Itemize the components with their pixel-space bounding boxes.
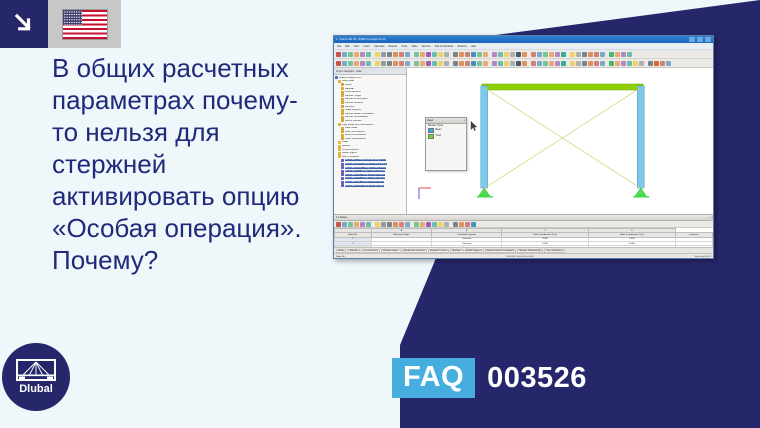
column-member-right [637,86,644,188]
toolbar-icon[interactable] [360,61,365,66]
toolbar-icon[interactable] [561,61,566,66]
toolbar-icon[interactable] [366,61,371,66]
toolbar-icon[interactable] [405,52,410,57]
faq-number: 003526 [487,361,587,395]
toolbar-icon[interactable] [504,52,509,57]
toolbar-icon[interactable] [444,61,449,66]
module-icon [341,181,344,184]
module-icon [341,166,344,169]
toolbar-icon[interactable] [453,222,458,227]
legend-swatch [428,134,434,139]
module-icon [341,159,344,162]
navigator-item-label: RF-STEEL EC3 - Design of steel membe [345,163,387,165]
toolbar-icon[interactable] [387,61,392,66]
toolbar-icon[interactable] [354,52,359,57]
table-tab[interactable]: Cross-Sections [361,249,380,253]
navigator-header: Project Navigator - Data [334,68,406,75]
folder-icon [338,148,341,151]
toolbar-icon[interactable] [609,52,614,57]
toolbar-icon[interactable] [438,52,443,57]
support-icon [341,109,344,112]
navigator-item-label: Loads [342,141,348,143]
toolbar-icon[interactable] [600,61,605,66]
combo-icon [341,134,344,137]
navigator-item-label: Load Cases [345,127,357,129]
folder-icon [338,152,341,155]
navigator-item-label: Printout Reports [342,149,359,151]
toolbar-icon[interactable] [414,61,419,66]
toolbar-icon[interactable] [609,61,614,66]
toolbar-icon[interactable] [531,61,536,66]
toolbar-icon[interactable] [432,61,437,66]
status-bar: Node No. [X=0.000 Y=0.000 Z=0.000] Snap … [334,253,713,259]
navigator-item-label: Results [342,145,350,147]
toolbar-icon[interactable] [510,61,515,66]
faq-banner: FAQ 003526 [392,358,587,398]
beam-member [482,84,643,90]
toolbar-icon[interactable] [492,52,497,57]
menu-item-calculate[interactable]: Calculate [374,45,385,48]
table-grid[interactable]: ABCD Node No.Reference NodeCoordinate Sy… [334,228,713,247]
status-center: [X=0.000 Y=0.000 Z=0.000] [506,256,533,258]
toolbar-icon[interactable] [666,61,671,66]
toolbar-icon[interactable] [405,222,410,227]
us-flag-icon [63,10,107,39]
table-tab[interactable]: Nodal Supports [465,249,484,253]
menu-item-view[interactable]: View [354,45,360,48]
navigator-item-label: Model Data [342,80,354,82]
toolbar-icon[interactable] [498,52,503,57]
toolbar-icon[interactable] [399,52,404,57]
navigator-item-label: Add-on Modules [342,156,359,158]
navigator-item-label: RF-STEEL GB - Design of steel memb [345,181,384,183]
ecc-icon [341,98,344,101]
table-tab[interactable]: Materials [347,249,360,253]
table-tab[interactable]: Sets of Members [544,249,565,253]
table-tab[interactable]: Member Hinges [381,249,400,253]
window-titlebar: 1 - Frame 001.rf5 - RFEM 6 Analysis 01.r… [334,36,713,43]
toolbar-icon[interactable] [354,61,359,66]
navigator-item-label: Member Hinges [345,95,361,97]
corner-arrow-badge [0,0,48,48]
navigator-item-label: RF-STEEL BS - Design of steel membe [345,177,385,179]
legend-title: Panel [427,119,433,122]
menu-item-options[interactable]: Options [422,45,431,48]
folder-icon [338,80,341,83]
navigator-item-label: Load Combinations [345,131,365,133]
navigator-item-label: Member Elastic Foundations [345,113,374,115]
toolbar-icon[interactable] [555,61,560,66]
toolbar-icon[interactable] [549,52,554,57]
toolbar-icon[interactable] [582,61,587,66]
navigator-item-label: Member Nonlinearities [345,116,368,118]
toolbar-icon[interactable] [459,61,464,66]
toolbar-icon[interactable] [516,52,521,57]
dlubal-bridge-icon [16,359,56,381]
toolbar-icon[interactable] [615,61,620,66]
window-controls[interactable] [689,37,711,42]
minimize-icon[interactable] [689,37,695,42]
toolbar-icon[interactable] [438,61,443,66]
found-icon [341,112,344,115]
dlubal-logo: Dlubal [2,343,70,411]
toolbar-icon[interactable] [465,222,470,227]
nodal-support-left [479,188,490,196]
toolbar-icon[interactable] [375,222,380,227]
toolbar-icon[interactable] [555,52,560,57]
support-base-right [633,196,649,198]
toolbar-icon[interactable] [621,52,626,57]
toolbar-icon[interactable] [381,222,386,227]
section-icon [341,91,344,94]
toolbar-icon[interactable] [432,52,437,57]
panel-legend[interactable]: Panel × Member Types BeamTruss [425,117,467,171]
navigator-item-label: Member Divisions [345,102,363,104]
toolbar-icon[interactable] [549,61,554,66]
toolbar-icon[interactable] [627,52,632,57]
table-body[interactable]: 1-Cartesian0.0000.0002-Cartesian0.000-6.… [335,237,713,247]
toolbar-icon[interactable] [498,61,503,66]
toolbar-icon[interactable] [537,52,542,57]
folder-icon [338,155,341,158]
navigator-item-label: RF-STEEL CSA - Design of steel mem [345,185,384,187]
toolbar-icon[interactable] [420,222,425,227]
toolbar-icon[interactable] [444,52,449,57]
toolbar-icon[interactable] [483,52,488,57]
material-icon [341,87,344,90]
toolbar-icon[interactable] [366,222,371,227]
toolbar-icon[interactable] [477,52,482,57]
toolbar-icon[interactable] [336,52,341,57]
toolbar-icon[interactable] [375,52,380,57]
combo-icon [341,130,344,133]
toolbar-icon[interactable] [588,52,593,57]
legend-entries: BeamTruss [426,127,466,139]
module-icon [341,163,344,166]
toolbar-icon[interactable] [594,61,599,66]
toolbar-icon[interactable] [615,52,620,57]
menu-item-window[interactable]: Window [457,45,466,48]
table-tab[interactable]: Members [450,249,463,253]
toolbar-icon[interactable] [414,222,419,227]
menu-item-help[interactable]: Help [471,45,476,48]
navigator-item-label: RF-STEEL IS - Design of steel member [345,170,385,172]
menu-item-tools[interactable]: Tools [401,45,407,48]
table-tab[interactable]: Member Nonlinearities [517,249,543,253]
mouse-cursor-icon [471,121,477,131]
secondary-toolbar[interactable] [334,59,713,68]
model-canvas[interactable]: Panel × Member Types BeamTruss [407,68,713,214]
toolbar-icon[interactable] [471,61,476,66]
toolbar-icon[interactable] [543,52,548,57]
toolbar-icon[interactable] [348,61,353,66]
folder-icon [338,145,341,148]
toolbar-icon[interactable] [399,222,404,227]
faq-card: В общих расчетных параметрах почему-то н… [0,0,760,428]
toolbar-icon[interactable] [414,52,419,57]
navigator-item-label: RFEM6 Analysis 01.rf5 [339,77,362,79]
toolbar-icon[interactable] [570,52,575,57]
maximize-icon[interactable] [697,37,703,42]
set-icon [341,119,344,122]
toolbar-icon[interactable] [627,61,632,66]
table-tab[interactable]: Member Elastic Foundations [485,249,517,253]
menu-item-file[interactable]: File [337,45,341,48]
toolbar-icon[interactable] [354,222,359,227]
nodal-support-right [635,188,646,196]
status-left: Node No. [336,256,345,258]
navigator-item-label: Member Eccentricities [345,98,368,100]
menu-bar[interactable]: FileEditViewInsertCalculateResultsToolsT… [334,43,713,50]
toolbar-icon[interactable] [336,61,341,66]
toolbar-icon[interactable] [432,222,437,227]
menu-item-results[interactable]: Results [389,45,398,48]
navigator-item-label: Sets of Members [345,120,362,122]
toolbar-icon[interactable] [510,52,515,57]
language-flag-box [48,0,121,48]
toolbar-icon[interactable] [465,61,470,66]
toolbar-icon[interactable] [522,61,527,66]
toolbar-icon[interactable] [393,222,398,227]
navigator-item-label: Members [345,106,355,108]
toolbar-icon[interactable] [438,222,443,227]
toolbar-icon[interactable] [336,222,341,227]
toolbar-icon[interactable] [588,61,593,66]
toolbar-icon[interactable] [342,52,347,57]
toolbar-icon[interactable] [381,61,386,66]
toolbar-icon[interactable] [516,61,521,66]
toolbar-icon[interactable] [633,61,638,66]
toolbar-icon[interactable] [393,52,398,57]
module-icon [341,184,344,187]
legend-swatch [428,128,434,133]
hinge-icon [341,94,344,97]
close-icon[interactable] [705,37,711,42]
toolbar-icon[interactable] [348,222,353,227]
navigator-item-label: Cross-Sections [345,91,361,93]
module-icon [341,170,344,173]
menu-item-table[interactable]: Table [411,45,417,48]
toolbar-icon[interactable] [453,52,458,57]
navigator-item-label: Super Combinations [345,138,366,140]
toolbar-icon[interactable] [453,61,458,66]
case-icon [341,127,344,130]
toolbar-icon[interactable] [531,52,536,57]
toolbar-icon[interactable] [399,61,404,66]
dlubal-logo-text: Dlubal [19,383,53,395]
toolbar-icon[interactable] [582,52,587,57]
table-tab[interactable]: Member Divisions [428,249,449,253]
navigator-item-label: Materials [345,88,354,90]
toolbar-icon[interactable] [465,52,470,57]
legend-entry: Truss [426,133,466,139]
toolbar-icon[interactable] [444,222,449,227]
menu-item-edit[interactable]: Edit [345,45,349,48]
toolbar-icon[interactable] [471,222,476,227]
table-title: 1.1 Nodes [336,216,347,219]
toolbar-icon[interactable] [477,61,482,66]
toolbar-icon[interactable] [576,52,581,57]
toolbar-icon[interactable] [660,61,665,66]
table-tab[interactable]: Nodes [336,249,346,253]
toolbar-icon[interactable] [360,222,365,227]
toolbar-icon[interactable] [537,61,542,66]
toolbar-icon[interactable] [426,52,431,57]
toolbar-icon[interactable] [576,61,581,66]
toolbar-icon[interactable] [543,61,548,66]
navigator-item-label: RF-STEEL - General stress analysis of s [345,159,386,161]
toolbar-icon[interactable] [420,61,425,66]
navigator-tree[interactable]: RFEM6 Analysis 01.rf5Model DataNodesMate… [334,75,406,187]
main-toolbar[interactable] [334,50,713,59]
module-icon [341,177,344,180]
arrow-down-right-icon [11,11,37,37]
legend-label: Beam [436,129,442,131]
toolbar-icon[interactable] [375,61,380,66]
toolbar-icon[interactable] [426,222,431,227]
navigator-item[interactable]: RF-STEEL CSA - Design of steel mem [335,184,406,188]
data-table-panel: 1.1 Nodes _ □ × ABCD Node No.Reference N… [334,214,713,259]
table-toolbar[interactable] [334,221,713,228]
navigator-item-label: Guide Objects [342,152,357,154]
table-window-controls[interactable]: _ □ × [708,216,714,219]
legend-label: Truss [436,135,442,137]
toolbar-icon[interactable] [522,52,527,57]
toolbar-icon[interactable] [426,61,431,66]
toolbar-icon[interactable] [366,52,371,57]
status-right: Snap Grid GLCS [695,256,711,258]
navigator-item-label: Nodal Supports [345,109,361,111]
navigator-item-label: RF-STEEL AISC - Design of steel memb [345,167,386,169]
toolbar-icon[interactable] [387,222,392,227]
folder-icon [338,123,341,126]
combo-icon [341,137,344,140]
rfem-application-window: 1 - Frame 001.rf5 - RFEM 6 Analysis 01.r… [333,35,714,259]
column-member-left [481,86,488,188]
toolbar-icon[interactable] [600,52,605,57]
nl-icon [341,116,344,119]
model-icon [335,76,338,79]
toolbar-icon[interactable] [387,52,392,57]
toolbar-icon[interactable] [639,61,644,66]
toolbar-icon[interactable] [492,61,497,66]
toolbar-icon[interactable] [381,52,386,57]
toolbar-icon[interactable] [483,61,488,66]
toolbar-icon[interactable] [570,61,575,66]
toolbar-icon[interactable] [561,52,566,57]
question-text: В общих расчетных параметрах почему-то н… [52,52,320,276]
toolbar-icon[interactable] [621,61,626,66]
member-icon [341,105,344,108]
window-title: 1 - Frame 001.rf5 - RFEM 6 Analysis 01.r… [336,38,385,41]
menu-item-insert[interactable]: Insert [363,45,370,48]
support-base-left [477,196,493,198]
menu-item-add-on-modules[interactable]: Add-on Modules [434,45,453,48]
toolbar-icon[interactable] [405,61,410,66]
toolbar-icon[interactable] [342,222,347,227]
navigator-item-label: RF-STEEL SIA - Design of steel memb [345,174,385,176]
toolbar-icon[interactable] [504,61,509,66]
toolbar-icon[interactable] [459,222,464,227]
toolbar-icon[interactable] [348,52,353,57]
legend-close-icon[interactable]: × [464,119,465,122]
project-navigator[interactable]: Project Navigator - Data RFEM6 Analysis … [334,68,407,214]
table-tab[interactable]: Member Eccentricities [402,249,428,253]
toolbar-icon[interactable] [594,52,599,57]
toolbar-icon[interactable] [648,61,653,66]
navigator-item-label: Nodes [345,84,352,86]
navigator-item-label: Result Combinations [345,134,366,136]
toolbar-icon[interactable] [459,52,464,57]
toolbar-icon[interactable] [471,52,476,57]
toolbar-icon[interactable] [420,52,425,57]
toolbar-icon[interactable] [342,61,347,66]
toolbar-icon[interactable] [393,61,398,66]
faq-badge: FAQ [392,358,475,398]
toolbar-icon[interactable] [360,52,365,57]
folder-icon [338,141,341,144]
window-body: Project Navigator - Data RFEM6 Analysis … [334,68,713,214]
toolbar-icon[interactable] [654,61,659,66]
module-icon [341,173,344,176]
navigator-item-label: Load Cases and Combinations [342,124,373,126]
nodes-table[interactable]: ABCD Node No.Reference NodeCoordinate Sy… [334,228,713,247]
